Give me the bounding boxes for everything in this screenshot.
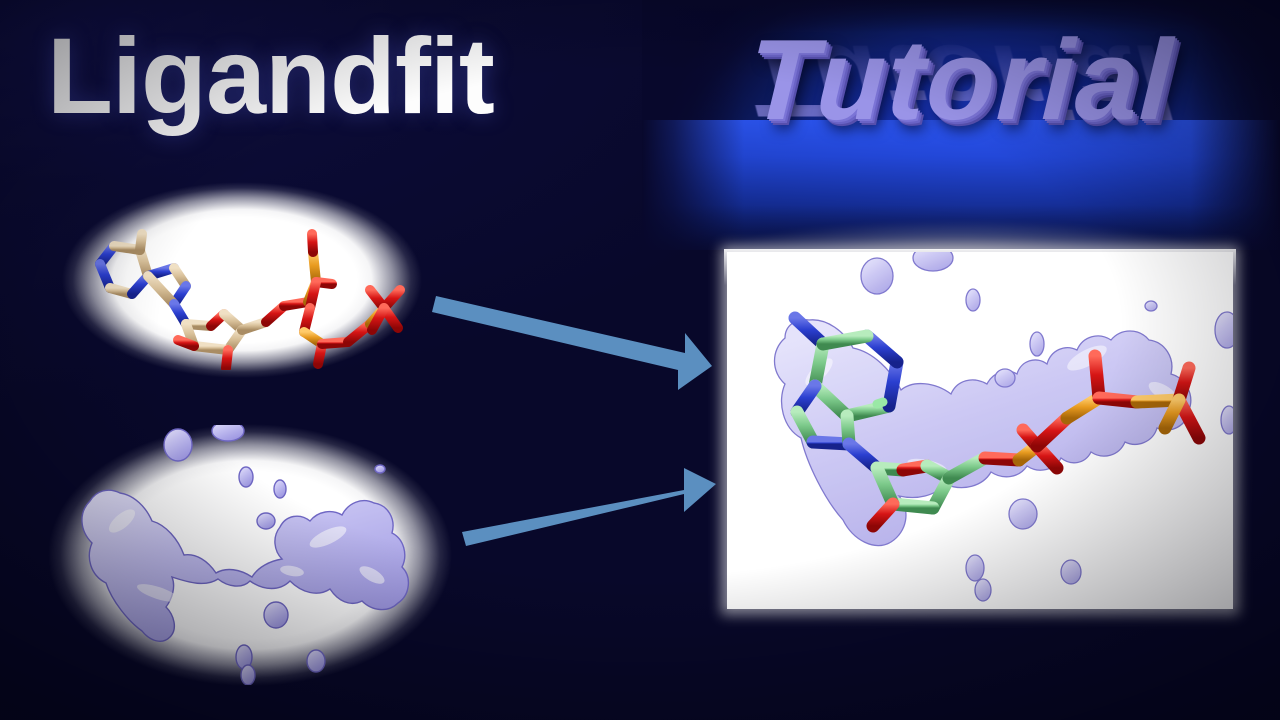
global-vignette <box>0 0 1280 720</box>
slide-canvas: Tutorial Tutorial Ligandfit <box>0 0 1280 720</box>
